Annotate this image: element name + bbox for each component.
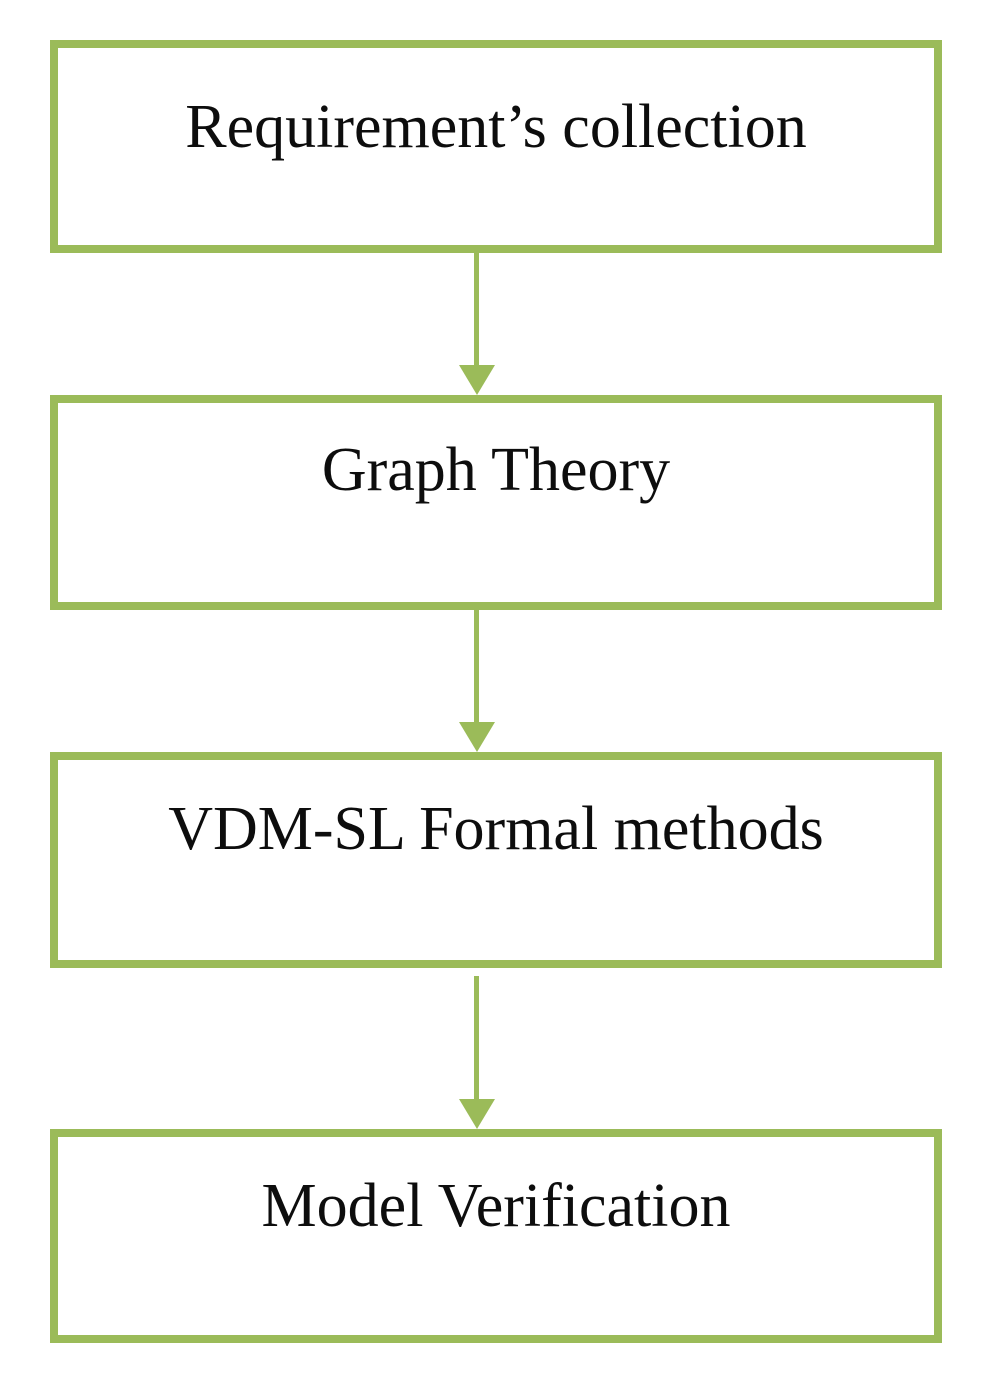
arrow-stem [474, 610, 479, 722]
flowchart-canvas: Requirement’s collection Graph Theory VD… [0, 0, 982, 1383]
arrow-head-icon [459, 722, 495, 752]
arrow-head-icon [459, 365, 495, 395]
arrow-stem [474, 253, 479, 365]
flowchart-arrow-down-1 [459, 253, 495, 395]
flowchart-node-label: Graph Theory [58, 439, 934, 501]
flowchart-arrow-down-2 [459, 610, 495, 752]
flowchart-node-graph-theory[interactable]: Graph Theory [50, 395, 942, 610]
flowchart-node-requirements-collection[interactable]: Requirement’s collection [50, 40, 942, 253]
flowchart-arrow-down-3 [459, 976, 495, 1129]
flowchart-node-label: Model Verification [58, 1175, 934, 1237]
arrow-head-icon [459, 1099, 495, 1129]
flowchart-node-vdm-sl-formal-methods[interactable]: VDM-SL Formal methods [50, 752, 942, 968]
flowchart-node-label: VDM-SL Formal methods [58, 798, 934, 860]
arrow-stem [474, 976, 479, 1099]
flowchart-node-label: Requirement’s collection [58, 96, 934, 158]
flowchart-node-model-verification[interactable]: Model Verification [50, 1129, 942, 1343]
